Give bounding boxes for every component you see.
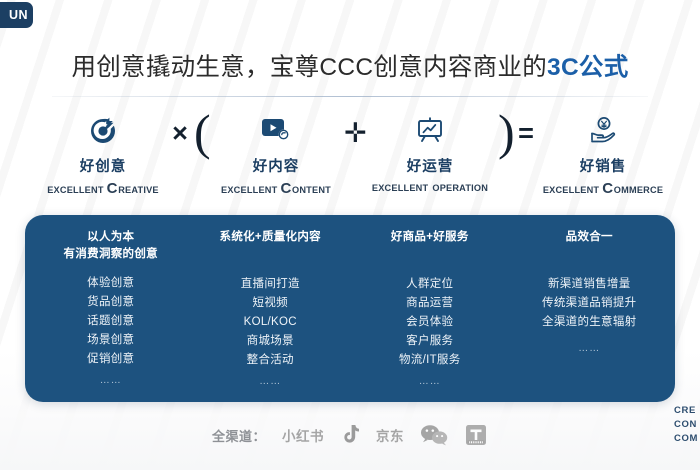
pillar-content: 好内容 EXCELLENTCONTENT [213,112,339,195]
formula-row: 好创意 EXCELLENTCREATIVE × ( 好内容 EXCELLENTC… [40,112,666,202]
list-item: 直播间打造 [241,276,300,293]
list-item: 场景创意 [87,332,134,349]
pillar-creative-en: EXCELLENTCREATIVE [47,183,159,195]
panel-column-commerce-list: 新渠道销售增量 传统渠道品销提升 全渠道的生意辐射 …… [542,276,636,354]
panel-column-creative-list: 体验创意 货品创意 话题创意 场景创意 促销创意 …… [87,275,134,386]
pillar-operation-en-prefix: EXCELLENT [372,183,428,193]
panel-column-operation: 好商品+好服务 人群定位 商品运营 会员体验 客户服务 物流/IT服务 …… [350,229,510,392]
wechat-logo [420,422,448,448]
panel-column-content-list: 直播间打造 短视频 KOL/KOC 商城场景 整合活动 …… [241,276,300,387]
title-divider [52,96,648,97]
pillar-operation-en: EXCELLENTOPERATION [372,183,488,193]
pillar-operation-en-rest: PERATION [440,183,488,193]
list-item: 体验创意 [87,275,134,292]
page-title-main: 用创意撬动生意，宝尊CCC创意内容商业的 [71,54,547,81]
list-item: 促销创意 [87,351,134,368]
watermark-line: CON [674,418,698,432]
hand-coin-icon [587,114,619,148]
pillar-creative-en-rest: REATIVE [118,185,159,195]
list-item: 物流/IT服务 [399,352,461,369]
panel-column-operation-head: 好商品+好服务 [391,229,469,246]
tmall-logo [464,422,488,448]
list-item: 会员体验 [406,314,453,331]
pillar-content-cn: 好内容 [253,155,300,176]
pillar-creative-cn: 好创意 [80,155,127,176]
list-item: 商城场景 [247,333,294,350]
watermark-line: CRE [674,404,698,418]
pillar-commerce-en-prefix: EXCELLENT [543,185,599,195]
douyin-logo [340,422,360,448]
video-play-icon [260,114,292,148]
operator-multiply: × [171,112,189,147]
panel-head-line: 以人为本 [64,229,158,246]
page-title-accent: 3C公式 [547,54,629,81]
channels-bar: 全渠道： 小红书 京东 [0,415,700,455]
presentation-chart-icon [414,114,446,148]
xiaohongshu-logo: 小红书 [282,422,324,448]
pillar-commerce-en-rest: OMMERCE [614,185,663,195]
pillar-operation-en-initial: O [432,183,439,193]
list-item: 人群定位 [406,276,453,293]
watermark-line: COM [674,432,698,446]
pillar-creative-en-initial: C [107,183,118,195]
pillar-content-en-rest: ONTENT [292,185,331,195]
page-title: 用创意撬动生意，宝尊CCC创意内容商业的3C公式 [0,48,700,83]
pillar-commerce-cn: 好销售 [580,155,627,176]
pillar-creative: 好创意 EXCELLENTCREATIVE [40,112,166,195]
list-item: 客户服务 [406,333,453,350]
jingdong-logo: 京东 [376,422,404,448]
pillar-commerce: 好销售 EXCELLENTCOMMERCE [540,112,666,195]
list-item: 货品创意 [87,294,134,311]
panel-column-creative: 以人为本 有消费洞察的创意 体验创意 货品创意 话题创意 场景创意 促销创意 …… [31,229,191,392]
watermark: CRE CON COM [674,404,698,445]
pillar-content-en-initial: C [280,183,291,195]
panel-column-creative-head: 以人为本 有消费洞察的创意 [64,229,158,262]
operator-equals: = [517,112,535,147]
panel-head-line: 品效合一 [566,229,613,246]
panel-column-commerce-head: 品效合一 [566,229,613,246]
target-arrow-icon [87,114,119,148]
pillar-commerce-en: EXCELLENTCOMMERCE [543,183,663,195]
panel-column-operation-list: 人群定位 商品运营 会员体验 客户服务 物流/IT服务 …… [399,276,461,387]
channels-label: 全渠道： [212,426,266,445]
list-item: 整合活动 [247,352,294,369]
panel-column-content-head: 系统化+质量化内容 [220,229,321,246]
pillar-content-en: EXCELLENTCONTENT [221,183,331,195]
operator-plus: ✛ [344,112,362,147]
list-item: 话题创意 [87,313,134,330]
list-item: 新渠道销售增量 [548,276,631,293]
un-badge: UN [0,2,33,28]
operator-paren-open: ( [194,112,208,150]
list-ellipsis: …… [578,343,600,354]
list-ellipsis: …… [419,376,441,387]
panel-head-line: 好商品+好服务 [391,229,469,246]
pillar-operation: 好运营 EXCELLENTOPERATION [367,112,493,193]
detail-panel: 以人为本 有消费洞察的创意 体验创意 货品创意 话题创意 场景创意 促销创意 …… [25,215,675,402]
pillar-commerce-en-initial: C [602,183,613,195]
panel-head-line: 有消费洞察的创意 [64,246,158,263]
operator-paren-close: ) [498,112,512,150]
panel-column-content: 系统化+质量化内容 直播间打造 短视频 KOL/KOC 商城场景 整合活动 …… [191,229,351,392]
list-item: 全渠道的生意辐射 [542,314,636,331]
list-ellipsis: …… [259,376,281,387]
list-ellipsis: …… [100,375,122,386]
pillar-creative-en-prefix: EXCELLENT [47,185,103,195]
list-item: 传统渠道品销提升 [542,295,636,312]
list-item: 短视频 [253,295,288,312]
panel-head-line: 系统化+质量化内容 [220,229,321,246]
panel-column-commerce: 品效合一 新渠道销售增量 传统渠道品销提升 全渠道的生意辐射 …… [510,229,670,392]
pillar-content-en-prefix: EXCELLENT [221,185,277,195]
pillar-operation-cn: 好运营 [407,155,454,176]
list-item: 商品运营 [406,295,453,312]
list-item: KOL/KOC [244,314,297,331]
